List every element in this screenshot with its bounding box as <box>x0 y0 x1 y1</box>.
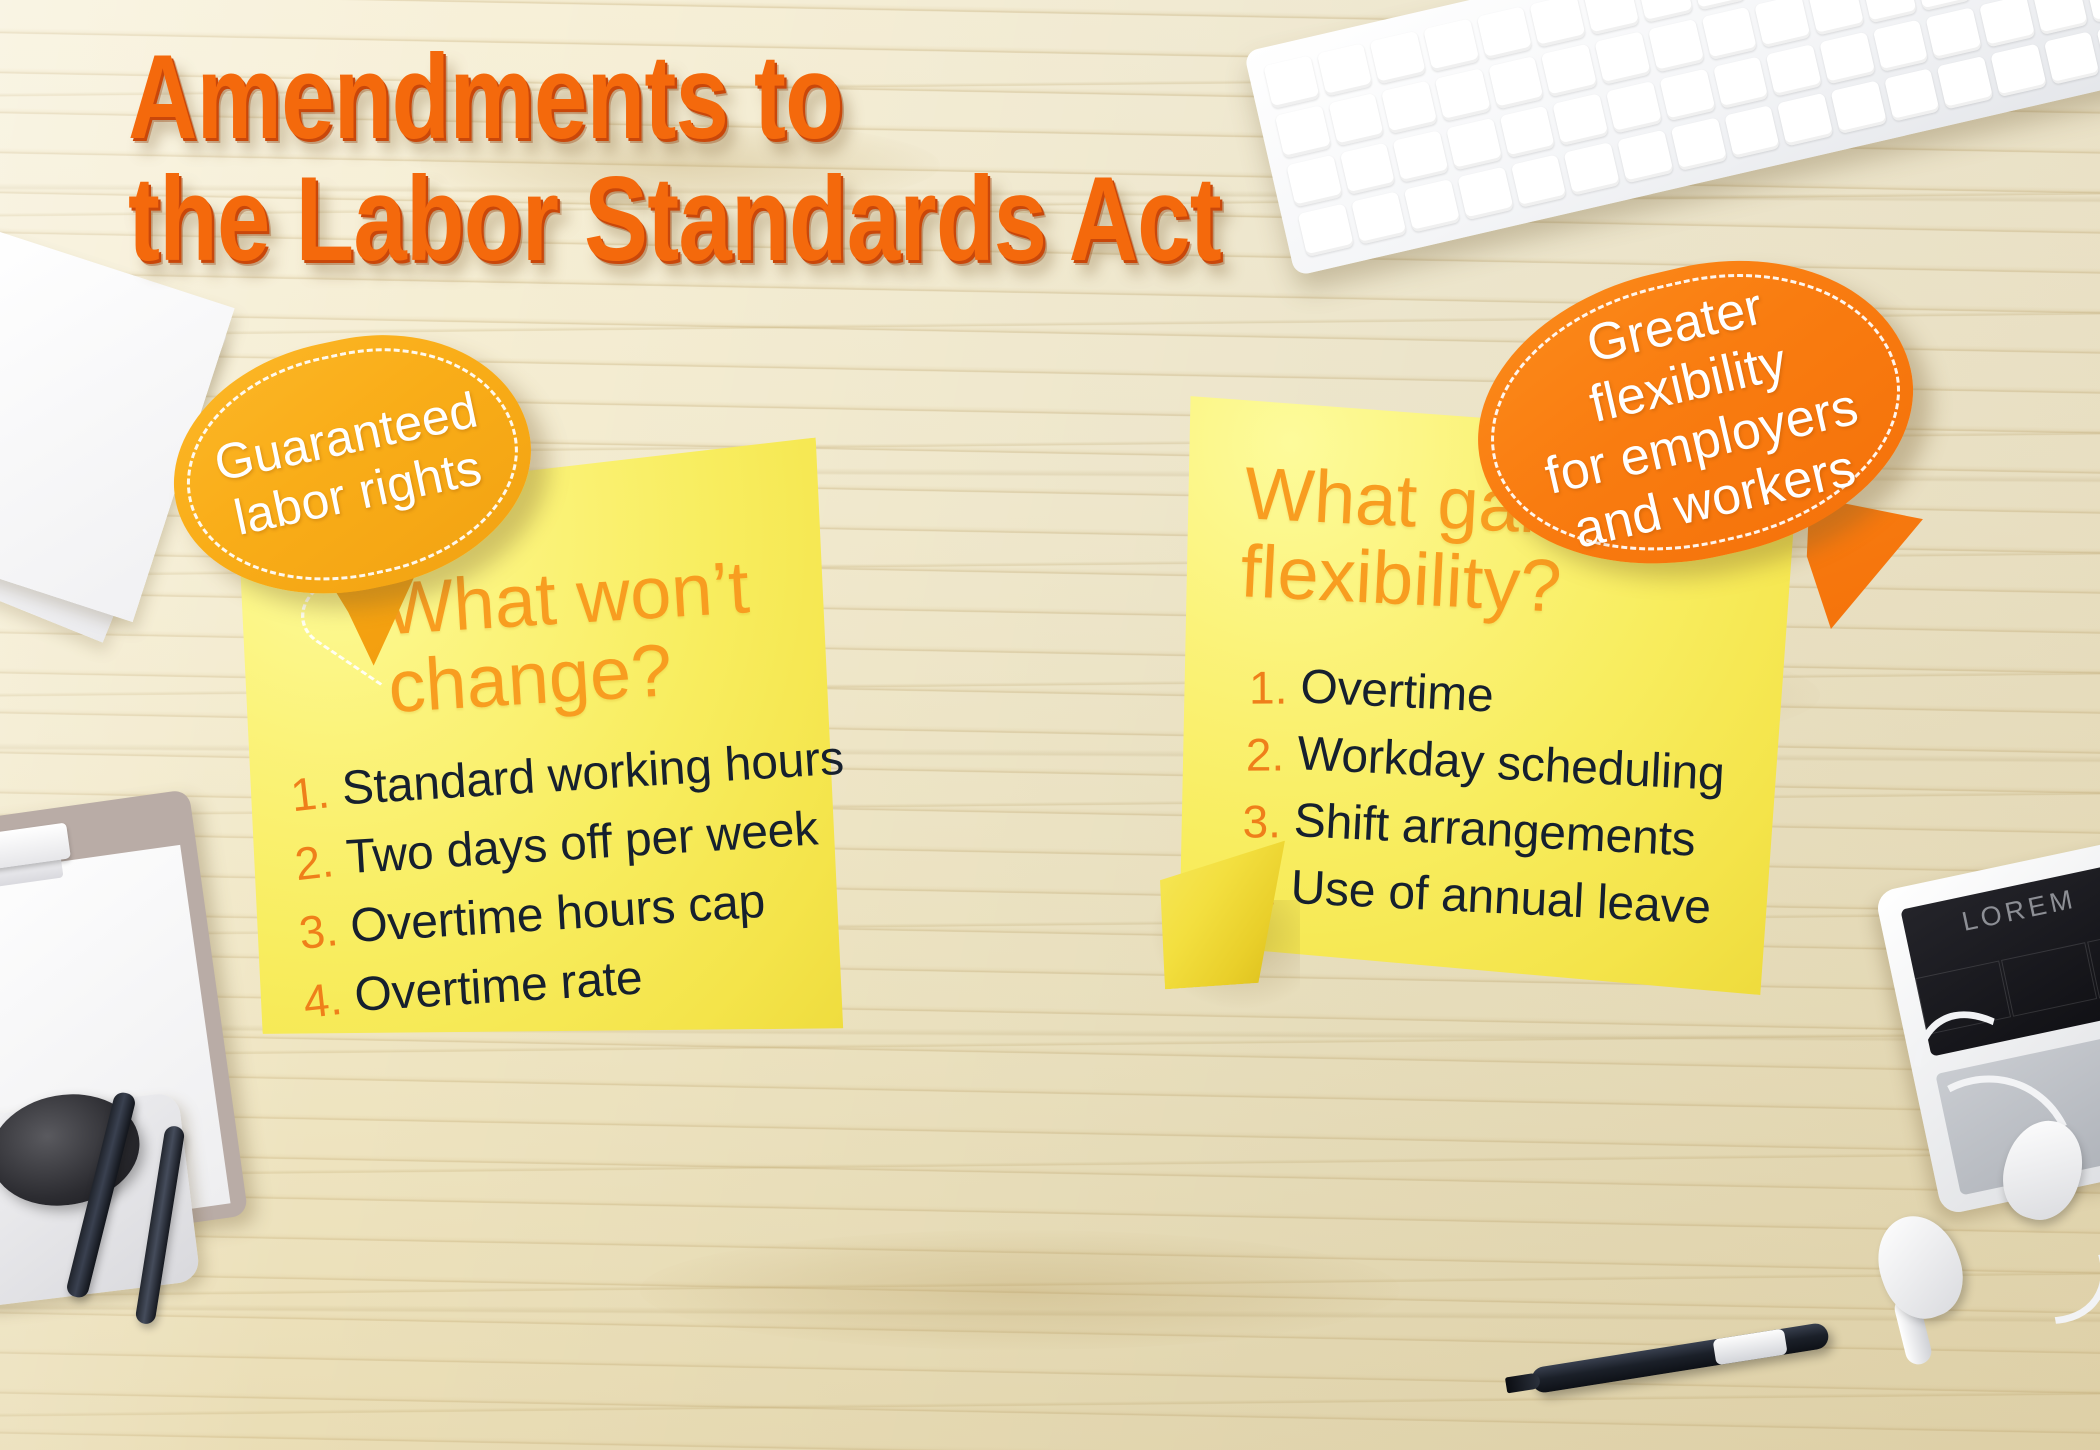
infographic-canvas: LOREM Amendments to the Labor Standards … <box>0 0 2100 1450</box>
list-item-number: 2. <box>1246 727 1285 781</box>
right-note-wrapper: What gains flexibility? 1. Overtime 2. W… <box>0 0 2100 1450</box>
list-item: 4. Use of annual leave <box>1238 857 1719 935</box>
list-item: 3. Shift arrangements <box>1241 791 1722 869</box>
right-note-list: 1. Overtime 2. Workday scheduling 3. Shi… <box>1237 657 1729 948</box>
list-item-number: 1. <box>1249 661 1288 715</box>
list-item-label: Use of annual leave <box>1289 860 1712 935</box>
list-item: 2. Workday scheduling <box>1245 724 1726 802</box>
list-item-label: Shift arrangements <box>1293 793 1697 868</box>
list-item-label: Workday scheduling <box>1296 726 1726 802</box>
list-item-label: Overtime <box>1299 659 1495 723</box>
list-item-number: 3. <box>1242 794 1281 848</box>
